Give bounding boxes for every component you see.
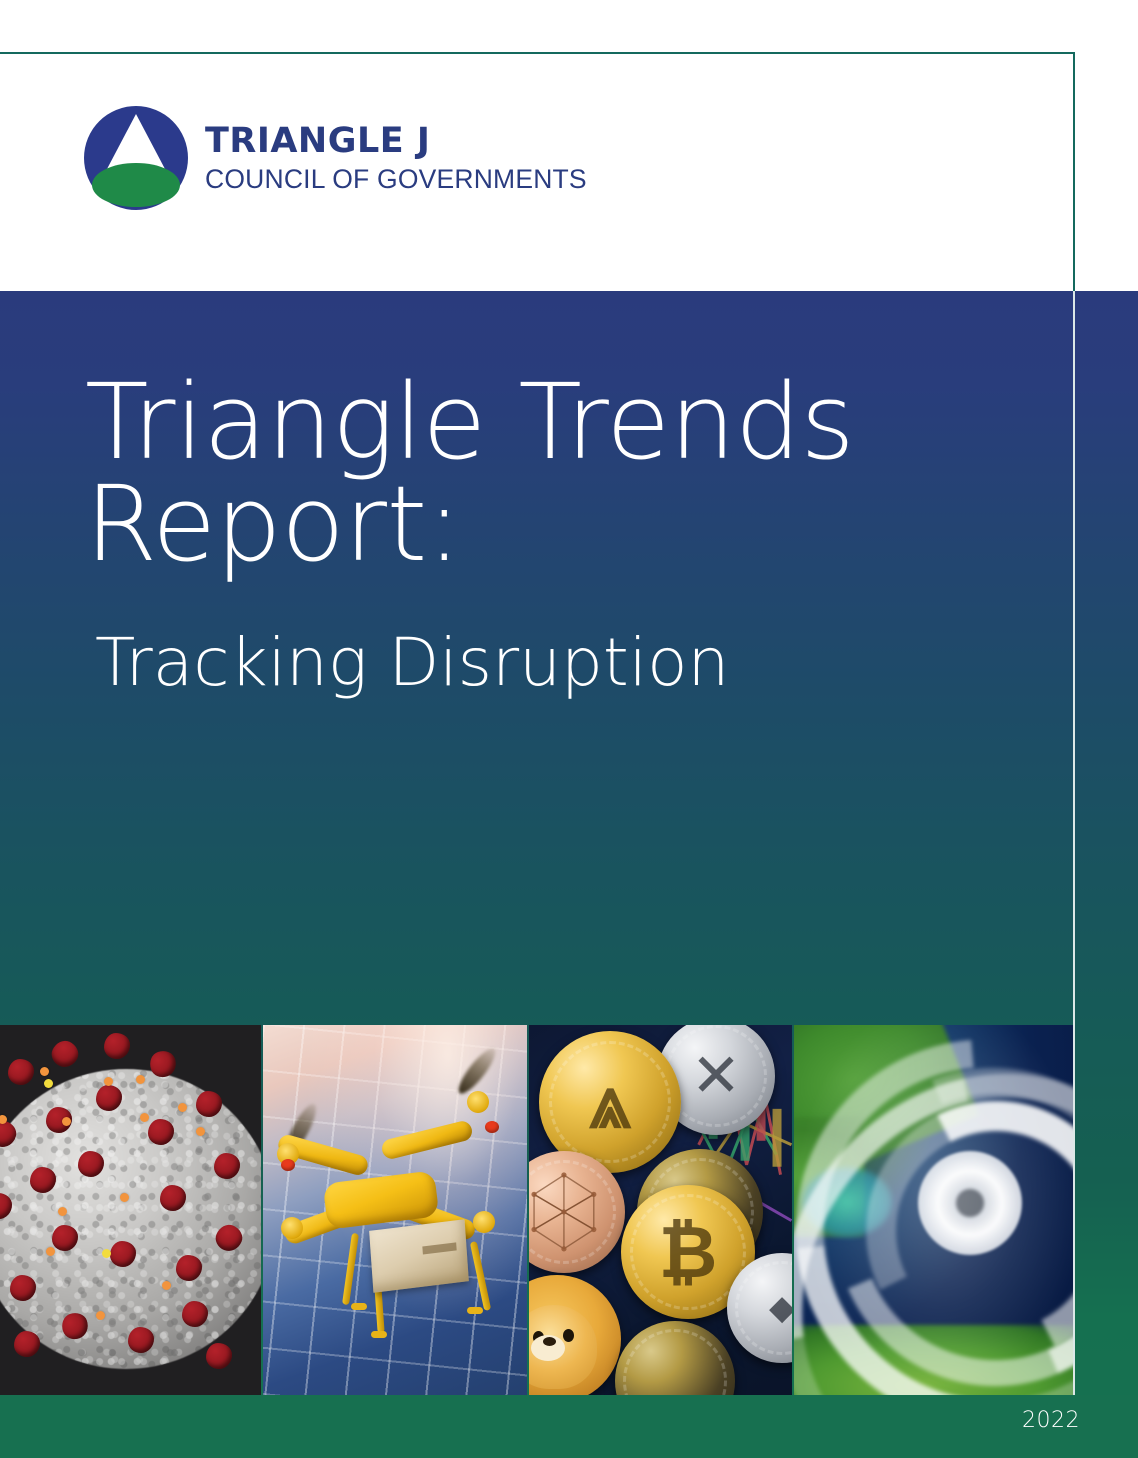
cover-photo-strip: ✕ ⩓ [0, 1025, 1075, 1395]
photo-delivery-drone [263, 1025, 528, 1395]
coronavirus-artwork [0, 1025, 261, 1395]
footer-band [0, 1395, 1138, 1458]
publication-year: 2022 [1022, 1408, 1080, 1433]
organization-name-primary: TRIANGLE J [205, 124, 587, 159]
frame-right-rule-overlay [1073, 291, 1075, 1395]
report-cover-page: TRIANGLE J COUNCIL OF GOVERNMENTS Triang… [0, 0, 1138, 1458]
organization-name-secondary: COUNCIL OF GOVERNMENTS [205, 166, 587, 193]
triangle-j-circle-logo-icon [83, 105, 189, 211]
cryptocurrency-artwork: ✕ ⩓ [529, 1025, 792, 1395]
frame-top-rule [0, 52, 1075, 54]
delivery-drone-artwork [263, 1025, 528, 1395]
photo-hurricane [794, 1025, 1075, 1395]
hurricane-artwork [794, 1025, 1075, 1395]
photo-coronavirus [0, 1025, 261, 1395]
photo-cryptocurrency: ✕ ⩓ [529, 1025, 792, 1395]
report-title: Triangle Trends Report: [85, 372, 985, 576]
organization-wordmark: TRIANGLE J COUNCIL OF GOVERNMENTS [205, 124, 587, 193]
cover-title-block: Triangle Trends Report: Tracking Disrupt… [85, 372, 985, 696]
cover-header: TRIANGLE J COUNCIL OF GOVERNMENTS [0, 0, 1138, 291]
organization-logo-lockup: TRIANGLE J COUNCIL OF GOVERNMENTS [83, 105, 587, 211]
report-subtitle: Tracking Disruption [95, 630, 985, 696]
